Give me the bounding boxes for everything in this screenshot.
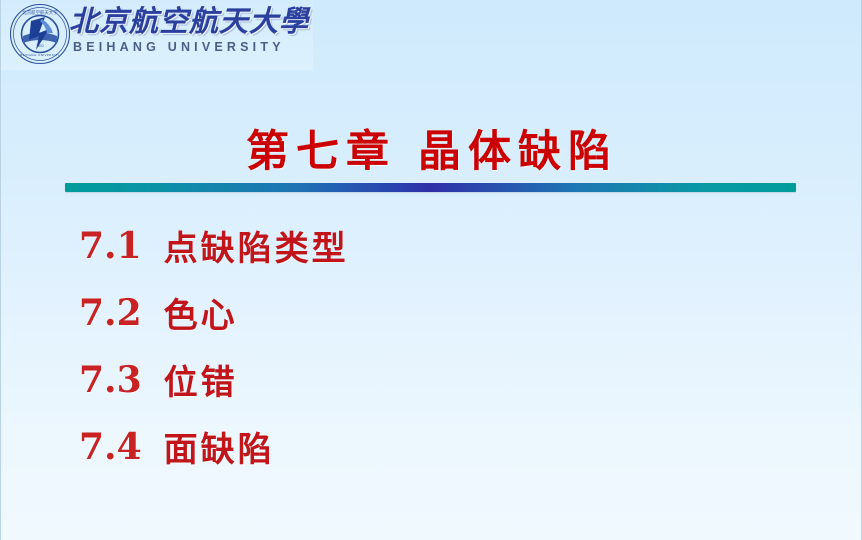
- outline-item-label: 面缺陷: [164, 422, 275, 471]
- outline-item-number: 7.4: [79, 426, 142, 468]
- title-divider: [65, 183, 796, 192]
- svg-text:北京航空航天大学: 北京航空航天大学: [22, 9, 58, 16]
- outline-item-label: 位错: [164, 355, 238, 404]
- list-item[interactable]: 7.3 位错: [79, 346, 779, 413]
- page-title: 第七章 晶体缺陷: [1, 117, 862, 179]
- outline-list: 7.1 点缺陷类型 7.2 色心 7.3 位错 7.4 面缺陷: [79, 212, 779, 480]
- svg-text:1952: 1952: [36, 44, 44, 48]
- list-item[interactable]: 7.2 色心: [79, 279, 779, 346]
- outline-item-number: 7.2: [79, 292, 142, 334]
- outline-item-number: 7.3: [79, 359, 142, 401]
- svg-text:BEIHANG UNIVERSITY: BEIHANG UNIVERSITY: [20, 53, 60, 57]
- beihang-university-crest-icon: 北京航空航天大学 BEIHANG UNIVERSITY 1952: [9, 3, 71, 65]
- presentation-slide: 北京航空航天大学 BEIHANG UNIVERSITY 1952 北京航空航天大…: [0, 0, 862, 540]
- university-name-chinese: 北京航空航天大學: [69, 3, 309, 39]
- university-name-english: BEIHANG UNIVERSITY: [73, 40, 285, 54]
- list-item[interactable]: 7.4 面缺陷: [79, 413, 779, 480]
- header-banner: 北京航空航天大学 BEIHANG UNIVERSITY 1952 北京航空航天大…: [1, 0, 313, 70]
- outline-item-number: 7.1: [79, 225, 142, 267]
- outline-item-label: 色心: [164, 288, 238, 337]
- outline-item-label: 点缺陷类型: [164, 221, 349, 270]
- list-item[interactable]: 7.1 点缺陷类型: [79, 212, 779, 279]
